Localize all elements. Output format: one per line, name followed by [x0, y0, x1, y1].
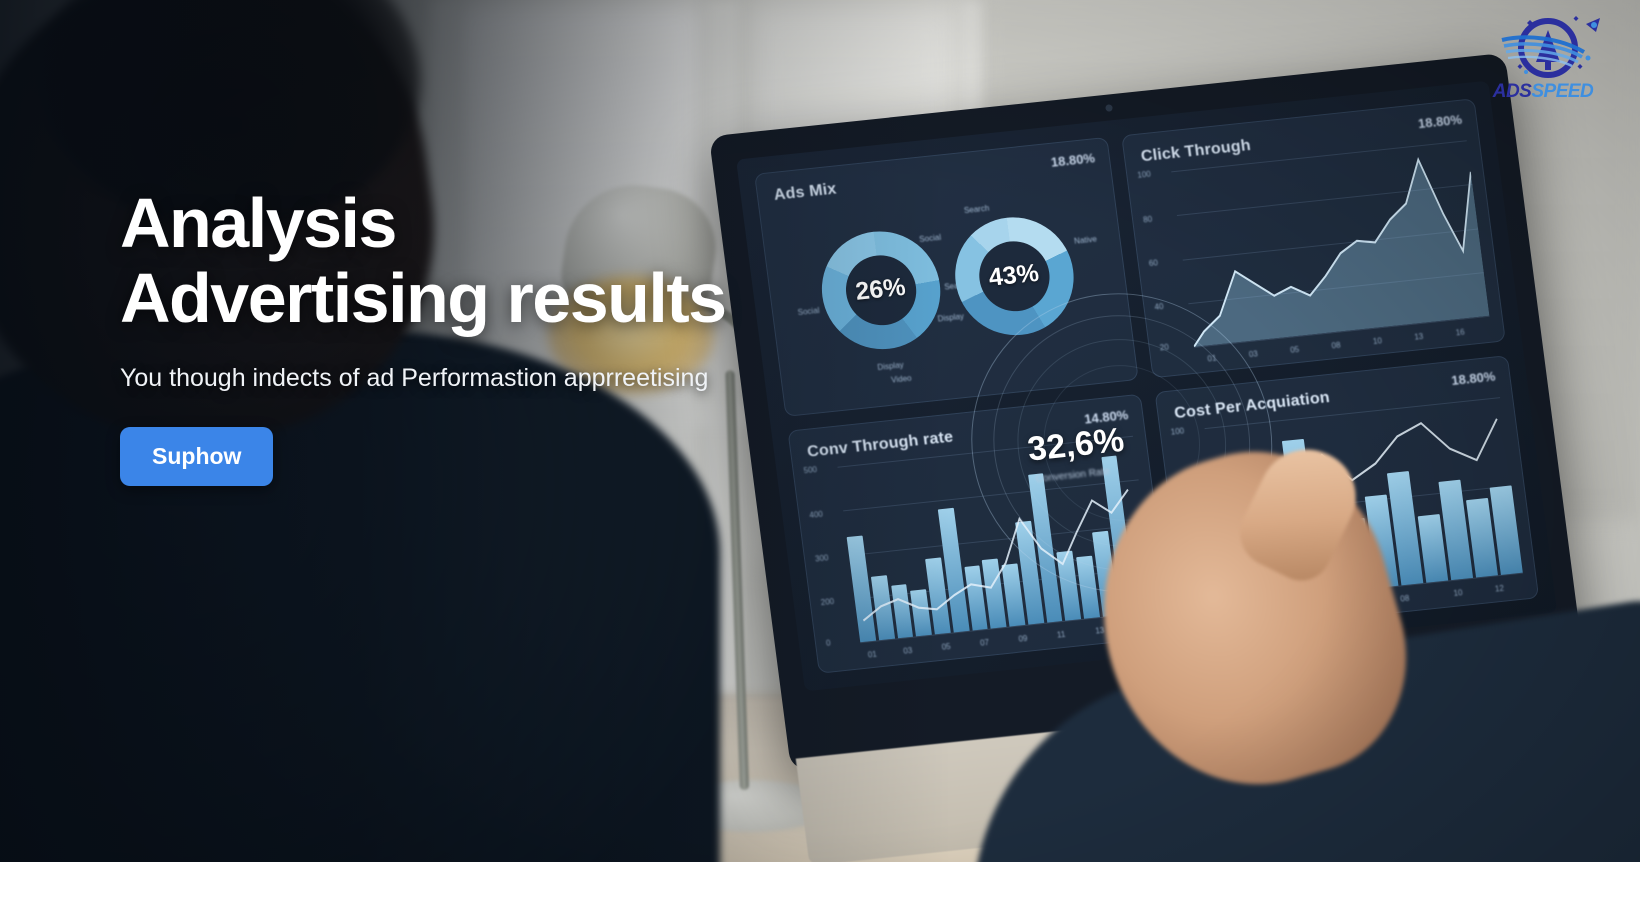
hero-copy: Analysis Advertising results You though … — [120, 186, 840, 486]
brand-logo[interactable]: ADSSPEED — [1468, 8, 1618, 116]
hero-subtitle: You though indects of ad Performastion a… — [120, 362, 720, 395]
cta-button[interactable]: Suphow — [120, 427, 273, 486]
hero-banner: Ads Mix 18.80% 26% Social Search Display… — [0, 0, 1640, 924]
headline-line-2: Advertising results — [120, 259, 726, 337]
page-title: Analysis Advertising results — [120, 186, 840, 336]
headline-line-1: Analysis — [120, 184, 396, 262]
bottom-frame — [0, 862, 1640, 924]
planet-rocket-emblem-icon — [1468, 8, 1618, 86]
